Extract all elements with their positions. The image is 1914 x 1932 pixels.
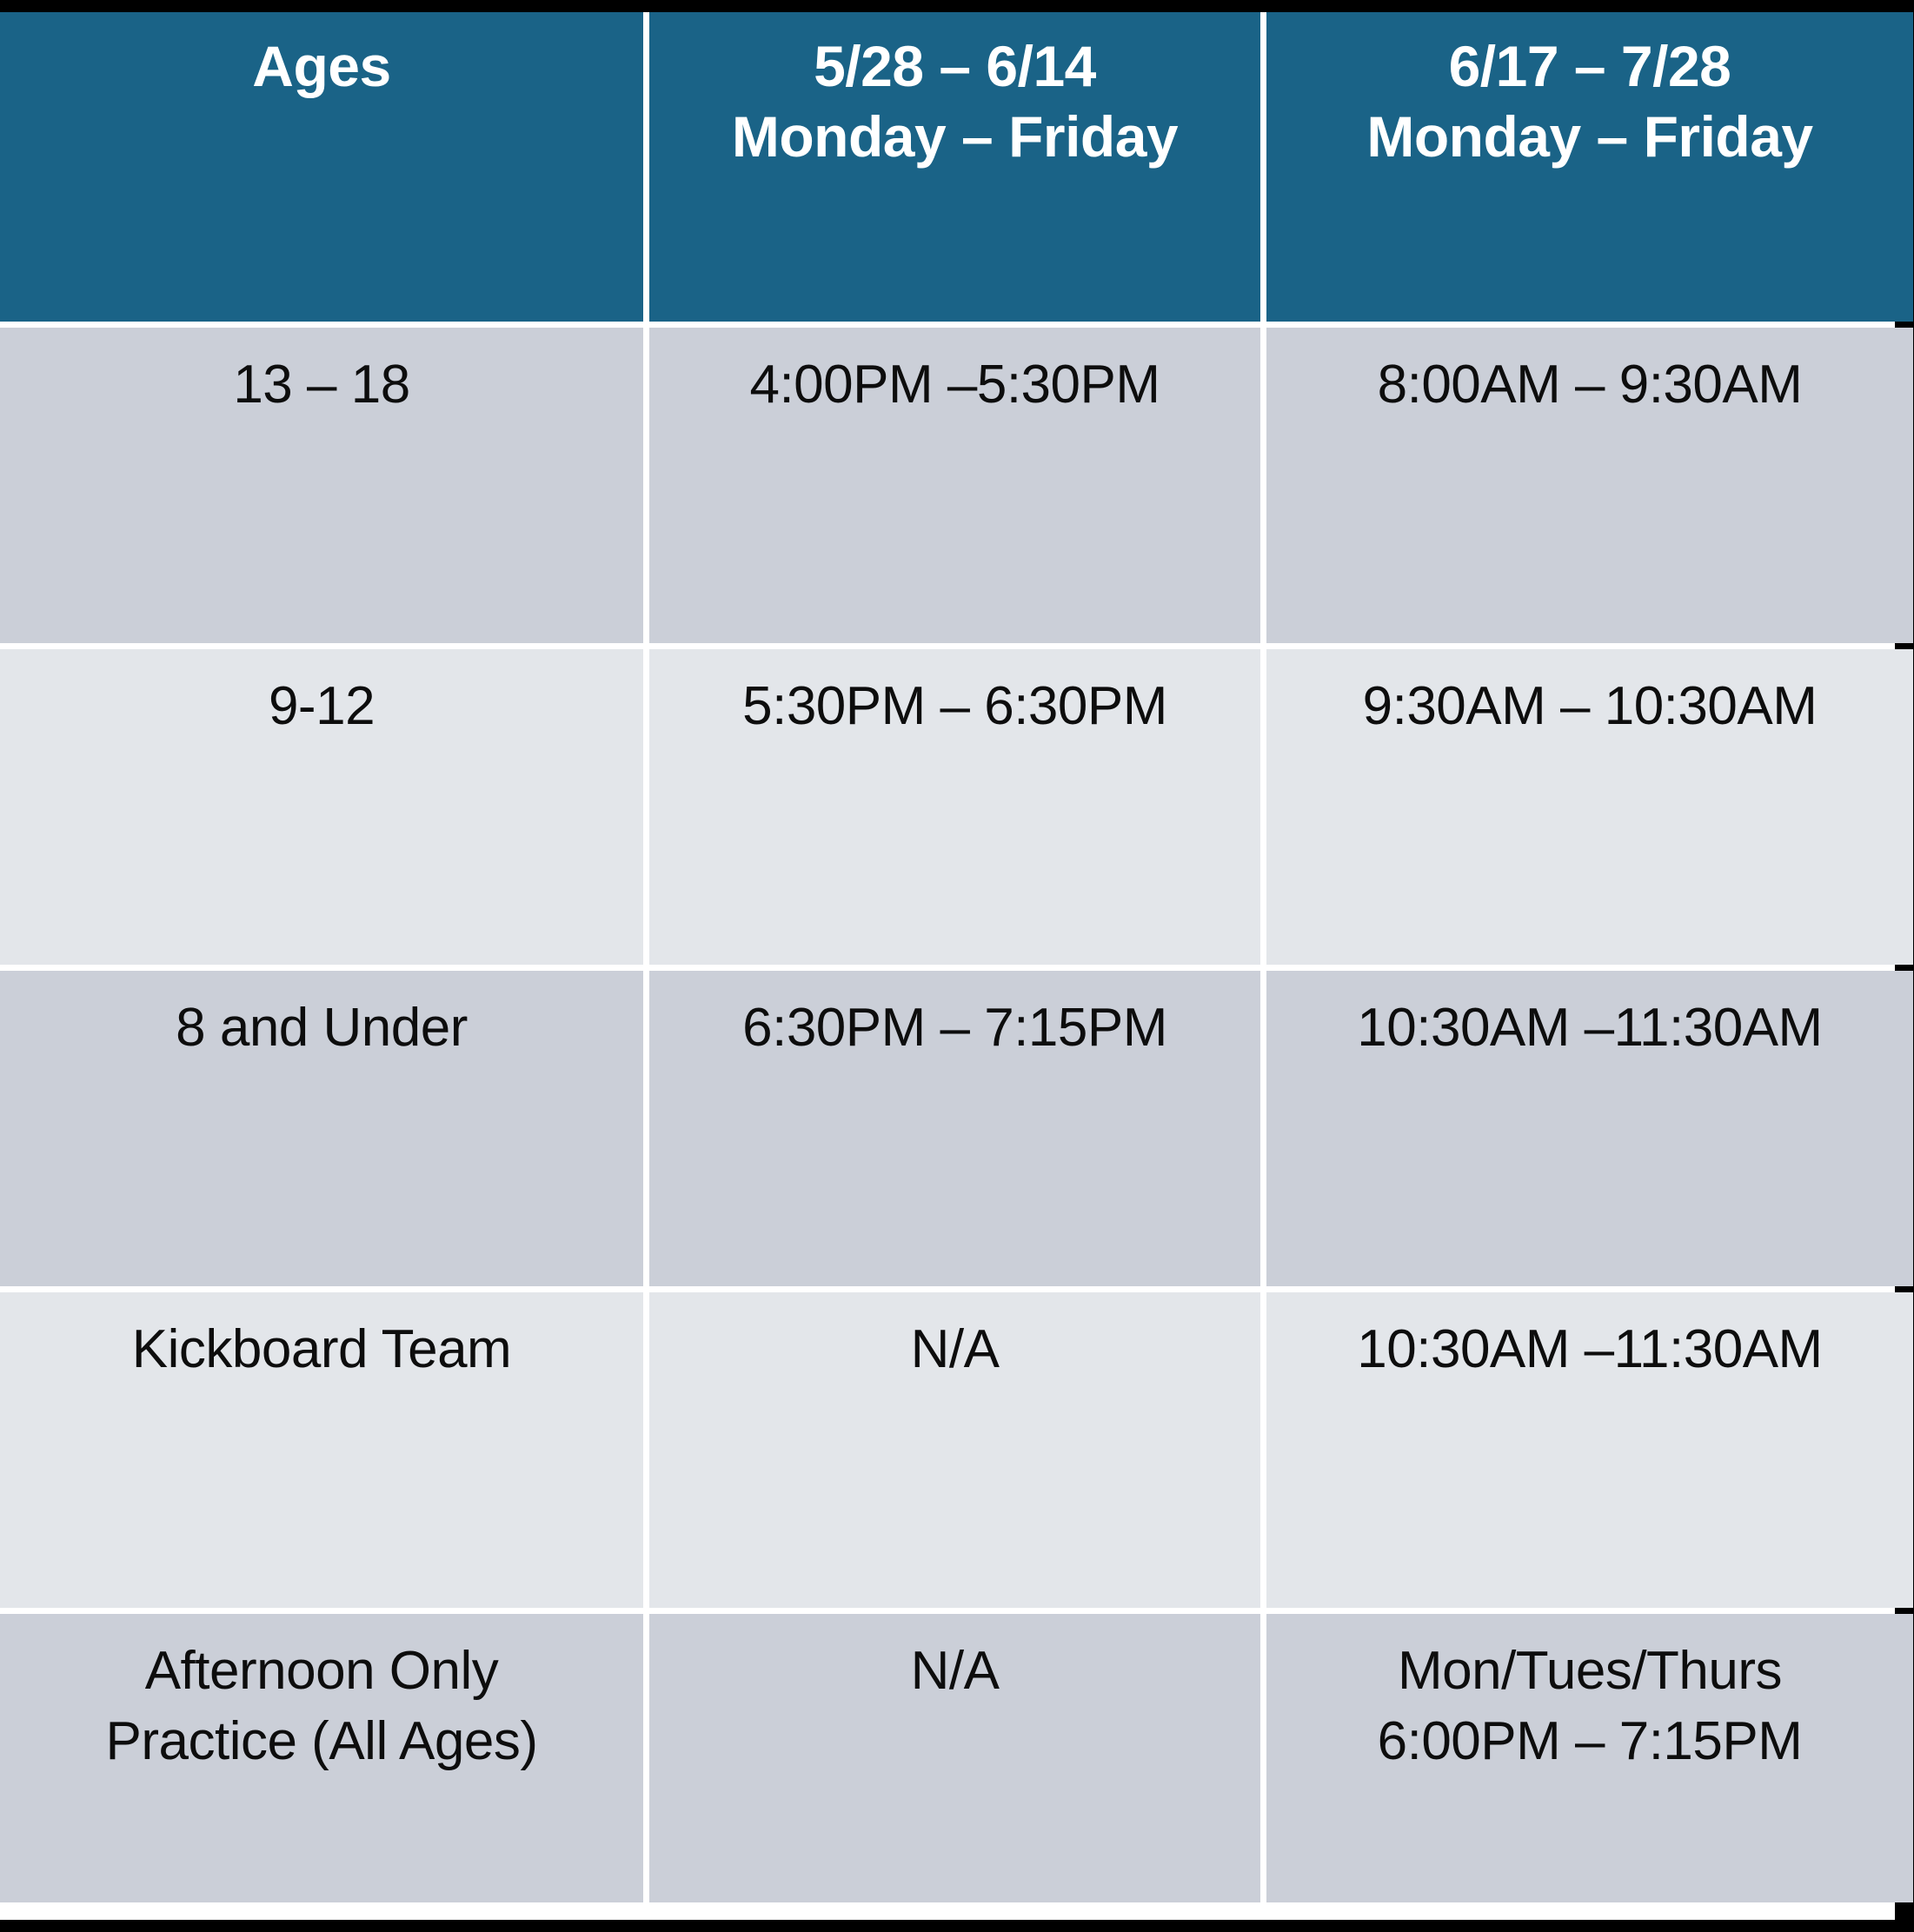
column-header-session-1-dates: 5/28 – 6/14 bbox=[658, 31, 1252, 102]
table-row: Kickboard Team N/A 10:30AM –11:30AM bbox=[0, 1292, 1913, 1608]
cell-session-2-row-3: 10:30AM –11:30AM bbox=[1266, 971, 1913, 1286]
cell-text: 5:30PM – 6:30PM bbox=[656, 672, 1253, 742]
cell-session-1-row-4: N/A bbox=[649, 1292, 1260, 1608]
cell-text: 6:30PM – 7:15PM bbox=[656, 993, 1253, 1064]
table-header-row: Ages 5/28 – 6/14 Monday – Friday 6/17 – … bbox=[0, 12, 1913, 322]
cell-text: 9:30AM – 10:30AM bbox=[1273, 672, 1906, 742]
cell-ages-row-2: 9-12 bbox=[0, 649, 643, 965]
cell-text-line-1: Mon/Tues/Thurs bbox=[1273, 1637, 1906, 1707]
cell-session-2-row-2: 9:30AM – 10:30AM bbox=[1266, 649, 1913, 965]
cell-text: 13 – 18 bbox=[7, 350, 636, 421]
column-header-ages: Ages bbox=[0, 12, 643, 322]
cell-session-1-row-3: 6:30PM – 7:15PM bbox=[649, 971, 1260, 1286]
cell-text-line-2: Practice (All Ages) bbox=[7, 1707, 636, 1777]
cell-ages-row-4: Kickboard Team bbox=[0, 1292, 643, 1608]
column-header-session-1-days: Monday – Friday bbox=[658, 102, 1252, 172]
cell-text-line-1: Afternoon Only bbox=[7, 1637, 636, 1707]
cell-ages-row-3: 8 and Under bbox=[0, 971, 643, 1286]
schedule-table-frame: Ages 5/28 – 6/14 Monday – Friday 6/17 – … bbox=[0, 0, 1914, 1932]
cell-text: Kickboard Team bbox=[7, 1315, 636, 1385]
cell-text: 8 and Under bbox=[7, 993, 636, 1064]
practice-schedule-table: Ages 5/28 – 6/14 Monday – Friday 6/17 – … bbox=[0, 6, 1914, 1909]
table-row: 8 and Under 6:30PM – 7:15PM 10:30AM –11:… bbox=[0, 971, 1913, 1286]
cell-session-1-row-1: 4:00PM –5:30PM bbox=[649, 328, 1260, 643]
table-header: Ages 5/28 – 6/14 Monday – Friday 6/17 – … bbox=[0, 12, 1913, 322]
cell-text: N/A bbox=[656, 1637, 1253, 1707]
cell-text: 4:00PM –5:30PM bbox=[656, 350, 1253, 421]
cell-session-2-row-1: 8:00AM – 9:30AM bbox=[1266, 328, 1913, 643]
table-row: 9-12 5:30PM – 6:30PM 9:30AM – 10:30AM bbox=[0, 649, 1913, 965]
table-body: 13 – 18 4:00PM –5:30PM 8:00AM – 9:30AM 9… bbox=[0, 328, 1913, 1902]
cell-ages-row-1: 13 – 18 bbox=[0, 328, 643, 643]
column-header-session-2-days: Monday – Friday bbox=[1275, 102, 1904, 172]
cell-text: 10:30AM –11:30AM bbox=[1273, 993, 1906, 1064]
column-header-ages-line-1: Ages bbox=[9, 31, 635, 102]
table-row: 13 – 18 4:00PM –5:30PM 8:00AM – 9:30AM bbox=[0, 328, 1913, 643]
cell-ages-row-5: Afternoon Only Practice (All Ages) bbox=[0, 1614, 643, 1902]
cell-text: 8:00AM – 9:30AM bbox=[1273, 350, 1906, 421]
cell-session-2-row-4: 10:30AM –11:30AM bbox=[1266, 1292, 1913, 1608]
table-row: Afternoon Only Practice (All Ages) N/A M… bbox=[0, 1614, 1913, 1902]
column-header-session-2-dates: 6/17 – 7/28 bbox=[1275, 31, 1904, 102]
column-header-session-1: 5/28 – 6/14 Monday – Friday bbox=[649, 12, 1260, 322]
cell-session-1-row-5: N/A bbox=[649, 1614, 1260, 1902]
cell-text: N/A bbox=[656, 1315, 1253, 1385]
cell-text: 10:30AM –11:30AM bbox=[1273, 1315, 1906, 1385]
cell-session-2-row-5: Mon/Tues/Thurs 6:00PM – 7:15PM bbox=[1266, 1614, 1913, 1902]
cell-text: 9-12 bbox=[7, 672, 636, 742]
cell-text-line-2: 6:00PM – 7:15PM bbox=[1273, 1707, 1906, 1777]
column-header-session-2: 6/17 – 7/28 Monday – Friday bbox=[1266, 12, 1913, 322]
cell-session-1-row-2: 5:30PM – 6:30PM bbox=[649, 649, 1260, 965]
